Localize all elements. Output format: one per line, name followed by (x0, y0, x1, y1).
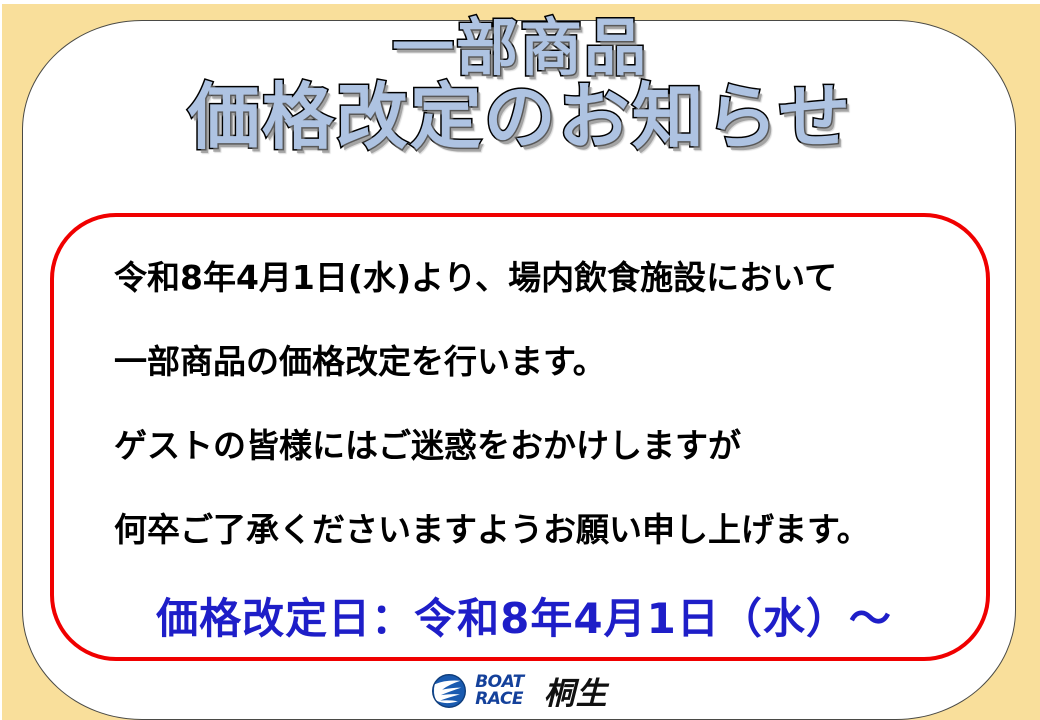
price-revision-notice-poster: 一部商品 価格改定のお知らせ 令和8年4月1日(水)より、場内飲食施設において … (0, 0, 1040, 720)
message-line: ゲストの皆様にはご迷惑をおかけしますが (114, 403, 934, 487)
boatrace-wordmark: BOAT RACE (475, 674, 524, 707)
message-line: 一部商品の価格改定を行います。 (114, 319, 934, 403)
venue-name: 桐生 (544, 668, 608, 713)
footer-brand: BOAT RACE 桐生 (0, 668, 1040, 713)
message-box: 令和8年4月1日(水)より、場内飲食施設において 一部商品の価格改定を行います。… (50, 213, 990, 661)
message-line: 何卒ご了承くださいますようお願い申し上げます。 (114, 487, 934, 571)
effective-date-text: 価格改定日：令和8年4月1日（水）〜 (54, 585, 994, 646)
message-line: 令和8年4月1日(水)より、場内飲食施設において (114, 235, 934, 319)
boatrace-wave-logo-icon (432, 674, 466, 708)
brand-line-2: RACE (475, 691, 524, 707)
message-body: 令和8年4月1日(水)より、場内飲食施設において 一部商品の価格改定を行います。… (114, 235, 934, 571)
